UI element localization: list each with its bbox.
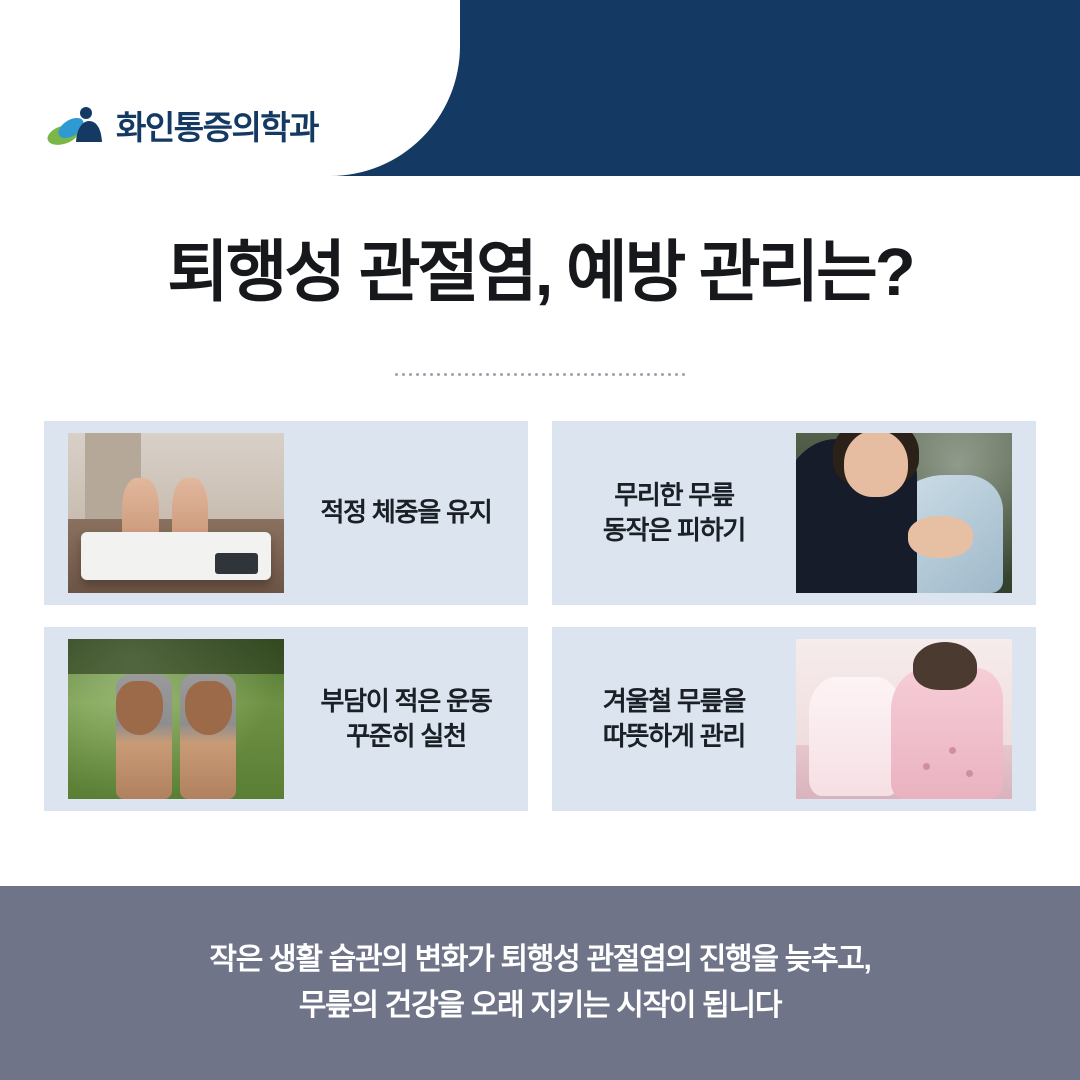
knee-pain-photo (796, 433, 1012, 593)
footer-line-1: 작은 생활 습관의 변화가 퇴행성 관절염의 진행을 늦추고, (209, 937, 870, 984)
tip-card-label: 적정 체중을 유지 (284, 495, 528, 530)
footer-banner: 작은 생활 습관의 변화가 퇴행성 관절염의 진행을 늦추고, 무릎의 건강을 … (0, 886, 1080, 1080)
tip-card-label: 겨울철 무릎을 따뜻하게 관리 (552, 684, 796, 754)
page-title: 퇴행성 관절염, 예방 관리는? (0, 238, 1080, 308)
tip-card-low-impact-exercise[interactable]: 부담이 적은 운동 꾸준히 실천 (44, 627, 528, 811)
brand-logo[interactable]: 화인통증의학과 (46, 104, 318, 150)
tip-card-avoid-strain[interactable]: 무리한 무릎 동작은 피하기 (552, 421, 1036, 605)
tips-grid: 적정 체중을 유지 무리한 무릎 동작은 피하기 부담이 적은 운동 꾸준히 실… (44, 421, 1036, 827)
leaf-person-logo-icon (46, 104, 108, 150)
brand-name: 화인통증의학과 (116, 111, 318, 144)
children-pajamas-photo (796, 639, 1012, 799)
tip-card-keep-warm[interactable]: 겨울철 무릎을 따뜻하게 관리 (552, 627, 1036, 811)
tip-card-label: 무리한 무릎 동작은 피하기 (552, 478, 796, 548)
tip-card-label: 부담이 적은 운동 꾸준히 실천 (284, 684, 528, 754)
feet-on-scale-photo (68, 433, 284, 593)
tip-card-weight[interactable]: 적정 체중을 유지 (44, 421, 528, 605)
poster-canvas: 화인통증의학과 퇴행성 관절염, 예방 관리는? 적정 체중을 유지 무리한 무… (0, 0, 1080, 1080)
footer-line-2: 무릎의 건강을 오래 지키는 시작이 됩니다 (299, 983, 781, 1030)
dotted-divider (395, 368, 685, 380)
hands-on-knees-photo (68, 639, 284, 799)
